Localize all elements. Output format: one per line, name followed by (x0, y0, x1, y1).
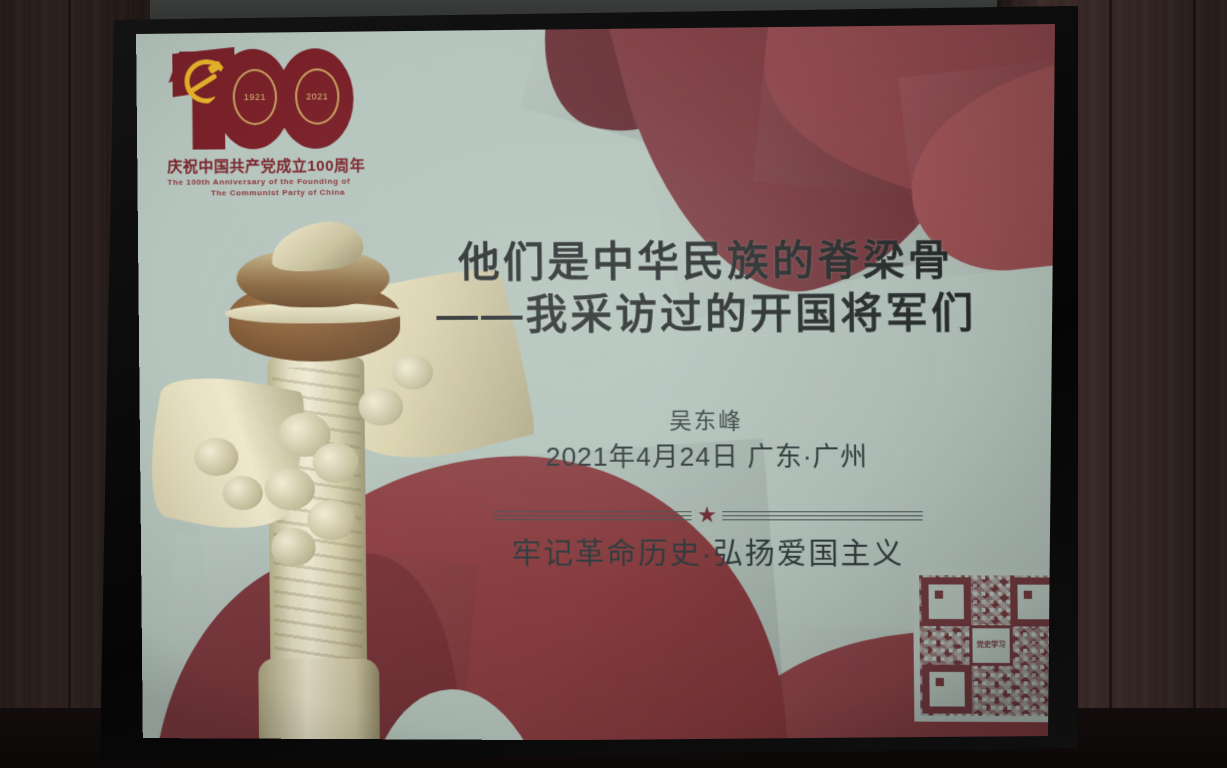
author-name: 吴东峰 (441, 404, 973, 437)
qr-finder-bottom-left (922, 665, 972, 714)
divider-rules-right (722, 511, 922, 520)
title-line-1: 他们是中华民族的脊梁骨 (399, 233, 1013, 289)
room-scene: 1921 2021 庆祝中国共产党成立100周年 The 100th Anniv… (0, 0, 1227, 768)
cloud-carving (313, 443, 360, 483)
wood-seam (68, 0, 71, 768)
star-icon: ★ (691, 504, 722, 526)
red-ribbon-shape (753, 19, 1072, 223)
cpc-centenary-logo: 1921 2021 庆祝中国共产党成立100周年 The 100th Anniv… (166, 42, 379, 204)
star-divider: ★ (493, 502, 923, 528)
wood-seam (1109, 0, 1112, 768)
slide-slogan: 牢记革命历史·弘扬爱国主义 (443, 530, 975, 573)
projected-slide-area: 1921 2021 庆祝中国共产党成立100周年 The 100th Anniv… (98, 22, 1060, 746)
logo-english-caption-line1: The 100th Anniversary of the Founding of (167, 175, 378, 187)
cloud-carving (307, 500, 356, 540)
divider-rules-left (493, 511, 692, 520)
slide-byline: 吴东峰 2021年4月24日 广东·广州 (441, 404, 974, 475)
cloud-carving (392, 355, 433, 389)
qr-center-logo: 党史学习 (969, 625, 1013, 666)
date-and-place: 2021年4月24日 广东·广州 (442, 437, 974, 476)
column-base (258, 658, 380, 742)
year-right: 2021 (295, 68, 340, 125)
cloud-carving (222, 476, 262, 510)
qr-modules: 党史学习 (919, 575, 1063, 716)
logo-mark: 1921 2021 (166, 42, 358, 152)
year-left: 1921 (233, 69, 278, 125)
slide-title: 他们是中华民族的脊梁骨 ——我采访过的开国将军们 (399, 233, 1014, 341)
title-line-2: ——我采访过的开国将军们 (400, 286, 1014, 341)
cloud-carving (358, 387, 403, 425)
presentation-slide: 1921 2021 庆祝中国共产党成立100周年 The 100th Anniv… (136, 19, 1072, 743)
red-ribbon-shape (520, 19, 743, 156)
wood-seam (1193, 0, 1196, 768)
logo-chinese-caption: 庆祝中国共产党成立100周年 (167, 154, 378, 176)
cloud-carving (264, 468, 315, 510)
cloud-carving (271, 528, 316, 566)
qr-finder-top-left (921, 577, 971, 626)
cloud-carving (194, 438, 238, 476)
qr-code[interactable]: 党史学习 (913, 569, 1070, 722)
logo-english-caption-line2: The Communist Party of China (168, 186, 379, 198)
